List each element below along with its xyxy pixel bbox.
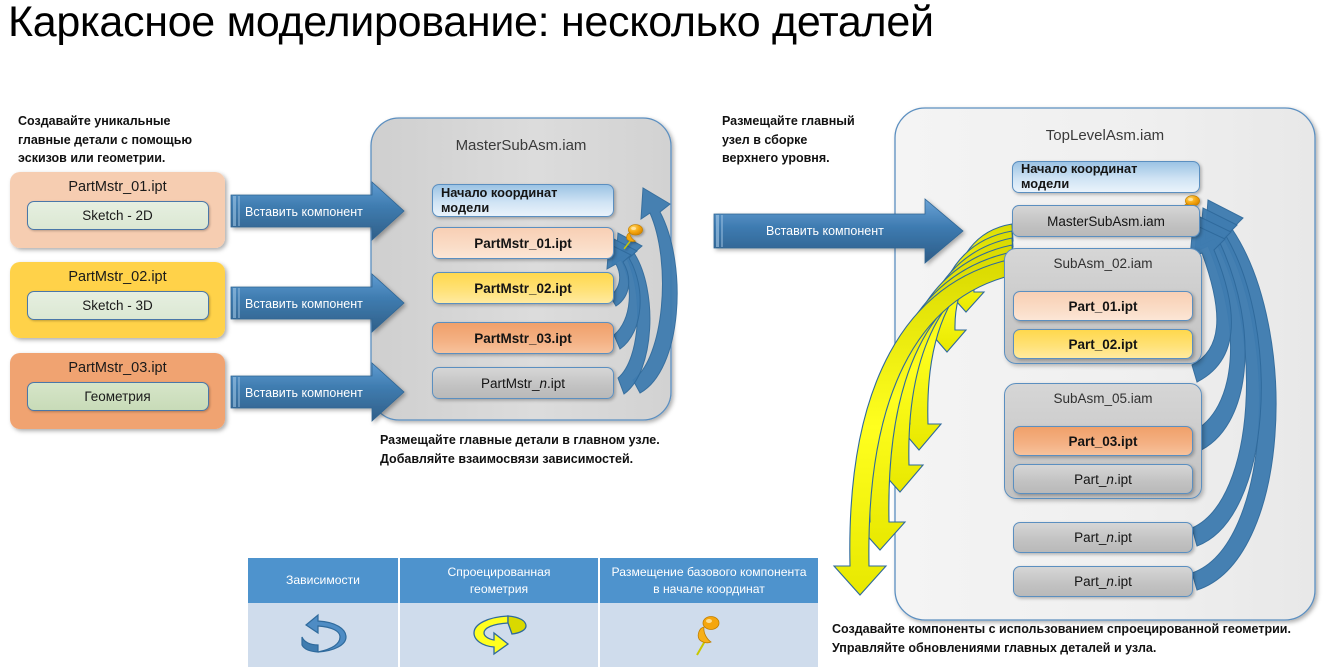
legend-header-row: Зависимости Спроецированная геометрия Ра… [248,558,818,603]
node-part-n-sub[interactable]: Part_n.ipt [1013,464,1193,494]
legend-cell-constraints [248,603,400,667]
orange-pushpin-icon [687,611,731,659]
node-part-n-1[interactable]: Part_n.ipt [1013,522,1193,553]
node-model-origin-top[interactable]: Начало координат модели [1012,161,1200,193]
node-label: Part_n.ipt [1074,574,1132,589]
note-left: Создавайте уникальные главные детали с п… [18,112,228,168]
yellow-curved-arrow-icon [464,611,534,659]
node-label: Part_01.ipt [1068,299,1137,314]
master-part-card-2[interactable]: PartMstr_02.ipt Sketch - 3D [10,262,225,338]
top-level-asm-title: TopLevelAsm.iam [960,127,1250,144]
subassembly-title: SubAsm_05.iam [1005,384,1201,406]
node-part-n-2[interactable]: Part_n.ipt [1013,566,1193,597]
node-part-01[interactable]: Part_01.ipt [1013,291,1193,321]
node-partmstr-02[interactable]: PartMstr_02.ipt [432,272,614,304]
note-middle-bottom: Размещайте главные детали в главном узле… [380,431,760,468]
node-label: PartMstr_01.ipt [474,236,572,251]
insert-component-arrow-3 [231,363,404,421]
legend-table: Зависимости Спроецированная геометрия Ра… [248,558,818,667]
master-part-sub[interactable]: Sketch - 2D [27,201,209,230]
node-label: PartMstr_03.ipt [474,331,572,346]
master-part-title: PartMstr_02.ipt [10,269,225,291]
master-part-sub[interactable]: Геометрия [27,382,209,411]
node-partmstr-n[interactable]: PartMstr_n.ipt [432,367,614,399]
legend-header-constraints: Зависимости [248,558,400,603]
node-label: Part_n.ipt [1074,530,1132,545]
node-partmstr-03[interactable]: PartMstr_03.ipt [432,322,614,354]
insert-component-arrow-2 [231,274,404,332]
node-part-02[interactable]: Part_02.ipt [1013,329,1193,359]
legend-header-projected-geometry: Спроецированная геометрия [400,558,600,603]
node-label: Начало координат модели [441,186,557,215]
node-partmstr-01[interactable]: PartMstr_01.ipt [432,227,614,259]
insert-component-arrow-4 [714,199,963,263]
legend-cell-projected-geometry [400,603,600,667]
node-mastersubasm-ref[interactable]: MasterSubAsm.iam [1012,205,1200,237]
node-part-03[interactable]: Part_03.ipt [1013,426,1193,456]
legend-icon-row [248,603,818,667]
insert-component-arrow-1 [231,182,404,240]
master-part-title: PartMstr_03.ipt [10,360,225,382]
subassembly-title: SubAsm_02.iam [1005,249,1201,271]
node-label: Part_n.ipt [1074,472,1132,487]
legend-header-base-component: Размещение базового компонента в начале … [600,558,818,603]
node-label: PartMstr_n.ipt [481,376,565,391]
note-middle-top: Размещайте главный узел в сборке верхнег… [722,112,902,168]
node-label: MasterSubAsm.iam [1047,214,1165,229]
node-label: Part_03.ipt [1068,434,1137,449]
legend-cell-base-component [600,603,818,667]
node-label: Начало координат модели [1021,162,1137,191]
note-bottom-right: Создавайте компоненты с использованием с… [832,620,1328,657]
master-sub-asm-title: MasterSubAsm.iam [371,137,671,154]
node-model-origin-master[interactable]: Начало координат модели [432,184,614,217]
blue-curved-arrow-icon [288,611,358,659]
page-title: Каркасное моделирование: несколько детал… [8,0,934,47]
master-part-card-1[interactable]: PartMstr_01.ipt Sketch - 2D [10,172,225,248]
master-part-sub[interactable]: Sketch - 3D [27,291,209,320]
master-part-card-3[interactable]: PartMstr_03.ipt Геометрия [10,353,225,429]
node-label: PartMstr_02.ipt [474,281,572,296]
node-label: Part_02.ipt [1068,337,1137,352]
master-part-title: PartMstr_01.ipt [10,179,225,201]
